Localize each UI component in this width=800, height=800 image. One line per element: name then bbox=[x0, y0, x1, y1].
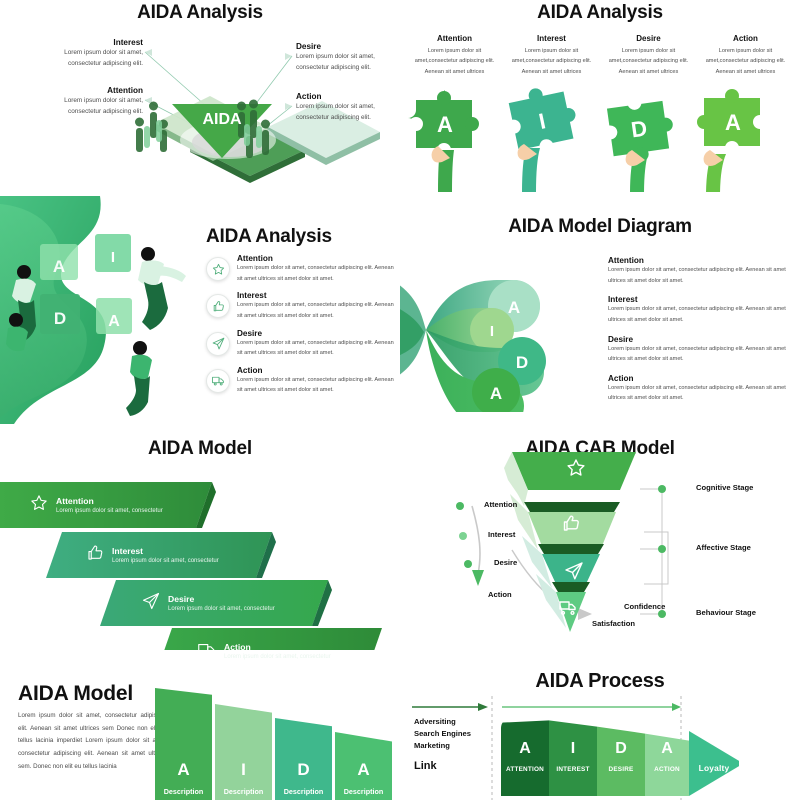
ribbon-heading: Action bbox=[224, 642, 331, 652]
cab-stage-behaviour: Behaviour Stage bbox=[696, 607, 776, 618]
process-label: ACTION bbox=[645, 766, 689, 773]
bar-description: Description bbox=[335, 784, 392, 800]
panel2-puzzle-illustration: A I D bbox=[406, 86, 794, 192]
process-label: DESIRE bbox=[597, 766, 645, 773]
panel7-title: AIDA Model bbox=[18, 682, 133, 706]
callout-interest-heading: Interest bbox=[8, 38, 143, 47]
truck-icon bbox=[198, 640, 216, 661]
panel2-title: AIDA Analysis bbox=[400, 2, 800, 24]
ribbon-action[interactable]: Action Lorem ipsum dolor sit amet, conse… bbox=[168, 628, 384, 660]
panel2-body-line2: amet,consectetur adipiscing elit. bbox=[603, 56, 694, 66]
callout-desire-line2: consectetur adipiscing elit. bbox=[296, 62, 400, 73]
panel8-line-advertising: Adversiting bbox=[414, 716, 471, 728]
process-label: INTEREST bbox=[549, 766, 597, 773]
panel4-text: Lorem ipsum dolor sit amet, consectetur … bbox=[608, 344, 798, 365]
panel7-body-text: Lorem ipsum dolor sit amet, consectetur … bbox=[18, 710, 168, 774]
panel-aida-model-ribbons: AIDA Model bbox=[0, 424, 400, 660]
paper-plane-icon bbox=[142, 592, 160, 615]
thumbs-up-icon bbox=[86, 544, 104, 567]
list-item-attention[interactable]: Attention Lorem ipsum dolor sit amet, co… bbox=[206, 254, 398, 284]
callout-action-line1: Lorem ipsum dolor sit amet, bbox=[296, 101, 400, 112]
panel2-body-line1: Lorem ipsum dolor sit bbox=[409, 46, 500, 56]
ribbon-heading: Attention bbox=[56, 496, 163, 506]
callout-attention-heading: Attention bbox=[8, 86, 143, 95]
cab-step-attention: Attention bbox=[484, 500, 517, 509]
bar-column-i[interactable]: I Description bbox=[215, 704, 272, 800]
list-item-heading: Interest bbox=[237, 291, 398, 300]
bar-description: Description bbox=[215, 784, 272, 800]
panel2-body-line1: Lorem ipsum dolor sit bbox=[700, 46, 791, 56]
cab-stage-affective: Affective Stage bbox=[696, 542, 776, 553]
panel-aida-analysis-isometric: AIDA Analysis bbox=[0, 0, 400, 196]
panel2-body-line1: Lorem ipsum dolor sit bbox=[603, 46, 694, 56]
panel2-body-line2: amet,consectetur adipiscing elit. bbox=[409, 56, 500, 66]
panel8-line-marketing: Marketing bbox=[414, 740, 471, 752]
panel2-heading-attention: Attention bbox=[409, 34, 500, 43]
callout-attention: Attention Lorem ipsum dolor sit amet, co… bbox=[8, 86, 143, 117]
list-item-text: Lorem ipsum dolor sit amet, consectetur … bbox=[237, 300, 398, 321]
panel1-center-label: AIDA bbox=[202, 111, 242, 128]
panel2-body-line3: Aenean sit amet ultrices bbox=[603, 67, 694, 77]
bar-letter: A bbox=[335, 760, 392, 780]
list-item-text: Lorem ipsum dolor sit amet, consectetur … bbox=[237, 375, 398, 396]
thumbs-up-icon bbox=[206, 294, 230, 318]
panel2-col-action: Action Lorem ipsum dolor sit amet,consec… bbox=[697, 34, 794, 77]
panel2-heading-desire: Desire bbox=[603, 34, 694, 43]
bar-column-a2[interactable]: A Description bbox=[335, 732, 392, 800]
callout-desire-heading: Desire bbox=[296, 42, 400, 51]
process-letter: D bbox=[597, 740, 645, 758]
callout-interest-line2: consectetur adipiscing elit. bbox=[8, 58, 143, 69]
panel2-columns: Attention Lorem ipsum dolor sit amet,con… bbox=[406, 34, 794, 77]
process-segment-attention[interactable]: A ATTENTION bbox=[501, 718, 549, 796]
panel-aida-model-diagram: AIDA Model Diagram A I bbox=[400, 210, 800, 424]
ribbon-text: Lorem ipsum dolor sit amet, consectetur bbox=[56, 508, 163, 514]
process-letter: A bbox=[645, 740, 689, 758]
panel8-line-search-engines: Search Engines bbox=[414, 728, 471, 740]
panel8-link-label: Link bbox=[414, 760, 437, 772]
ribbon-heading: Desire bbox=[168, 594, 275, 604]
svg-text:A: A bbox=[108, 313, 120, 330]
truck-icon bbox=[206, 369, 230, 393]
paper-plane-icon bbox=[206, 332, 230, 356]
bar-chart: A Description I Description D Descriptio… bbox=[155, 688, 395, 800]
callout-desire: Desire Lorem ipsum dolor sit amet, conse… bbox=[296, 42, 400, 73]
panel4-letter-a1: A bbox=[508, 298, 520, 317]
panel3-item-list: Attention Lorem ipsum dolor sit amet, co… bbox=[206, 254, 398, 403]
list-item-text: Lorem ipsum dolor sit amet, consectetur … bbox=[237, 338, 398, 359]
svg-text:A: A bbox=[53, 257, 65, 276]
panel-aida-analysis-list: A I D A AIDA Analysis bbox=[0, 196, 400, 424]
callout-interest: Interest Lorem ipsum dolor sit amet, con… bbox=[8, 38, 143, 69]
panel4-heading: Desire bbox=[608, 335, 798, 344]
panel2-body-line2: amet,consectetur adipiscing elit. bbox=[700, 56, 791, 66]
bar-description: Description bbox=[155, 784, 212, 800]
panel4-text: Lorem ipsum dolor sit amet, consectetur … bbox=[608, 304, 798, 325]
star-icon bbox=[30, 494, 48, 517]
list-item-text: Lorem ipsum dolor sit amet, consectetur … bbox=[237, 263, 398, 284]
panel-aida-cab-model: AIDA CAB Model bbox=[400, 424, 800, 670]
panel4-text: Lorem ipsum dolor sit amet, consectetur … bbox=[608, 383, 798, 404]
panel8-left-lines: Adversiting Search Engines Marketing bbox=[414, 716, 471, 751]
panel4-text: Lorem ipsum dolor sit amet, consectetur … bbox=[608, 265, 798, 286]
callout-attention-line1: Lorem ipsum dolor sit amet, bbox=[8, 95, 143, 106]
panel-aida-model-bars: AIDA Model Lorem ipsum dolor sit amet, c… bbox=[0, 660, 400, 800]
bar-letter: D bbox=[275, 760, 332, 780]
ribbon-desire[interactable]: Desire Lorem ipsum dolor sit amet, conse… bbox=[112, 580, 328, 626]
panel2-body-line3: Aenean sit amet ultrices bbox=[700, 67, 791, 77]
panel4-letter-d: D bbox=[516, 353, 528, 372]
process-letter: A bbox=[501, 740, 549, 758]
callout-action-heading: Action bbox=[296, 92, 400, 101]
svg-text:D: D bbox=[54, 309, 66, 328]
bar-letter: A bbox=[155, 760, 212, 780]
panel4-item-attention: Attention Lorem ipsum dolor sit amet, co… bbox=[608, 256, 798, 286]
list-item-interest[interactable]: Interest Lorem ipsum dolor sit amet, con… bbox=[206, 291, 398, 321]
panel2-col-attention: Attention Lorem ipsum dolor sit amet,con… bbox=[406, 34, 503, 77]
panel-aida-analysis-puzzle: AIDA Analysis Attention Lorem ipsum dolo… bbox=[400, 0, 800, 196]
ribbon-heading: Interest bbox=[112, 546, 219, 556]
bar-letter: I bbox=[215, 760, 272, 780]
cab-step-interest: Interest bbox=[488, 530, 515, 539]
panel2-body-line1: Lorem ipsum dolor sit bbox=[506, 46, 597, 56]
callout-attention-line2: consectetur adipiscing elit. bbox=[8, 106, 143, 117]
svg-text:A: A bbox=[725, 110, 741, 135]
callout-action: Action Lorem ipsum dolor sit amet, conse… bbox=[296, 92, 400, 123]
list-item-heading: Desire bbox=[237, 329, 398, 338]
panel-aida-process: AIDA Process Adversiting Search Engines … bbox=[400, 660, 800, 800]
panel3-illustration: A I D A bbox=[0, 196, 196, 424]
panel2-heading-interest: Interest bbox=[506, 34, 597, 43]
cab-label-confidence: Confidence bbox=[624, 602, 665, 611]
list-item-heading: Action bbox=[237, 366, 398, 375]
ribbon-text: Lorem ipsum dolor sit amet, consectetur bbox=[168, 606, 275, 612]
process-segment-interest[interactable]: I INTEREST bbox=[549, 718, 597, 796]
panel2-col-desire: Desire Lorem ipsum dolor sit amet,consec… bbox=[600, 34, 697, 77]
panel2-body-line3: Aenean sit amet ultrices bbox=[506, 67, 597, 77]
panel4-item-desire: Desire Lorem ipsum dolor sit amet, conse… bbox=[608, 335, 798, 365]
process-label: ATTENTION bbox=[501, 766, 549, 773]
bar-column-d[interactable]: D Description bbox=[275, 718, 332, 800]
panel4-item-list: Attention Lorem ipsum dolor sit amet, co… bbox=[608, 256, 798, 413]
callout-action-line2: consectetur adipiscing elit. bbox=[296, 112, 400, 123]
callout-desire-line1: Lorem ipsum dolor sit amet, bbox=[296, 51, 400, 62]
cab-stage-cognitive: Cognitive Stage bbox=[696, 482, 776, 493]
cab-step-desire: Desire bbox=[494, 558, 517, 567]
panel2-col-interest: Interest Lorem ipsum dolor sit amet,cons… bbox=[503, 34, 600, 77]
panel4-heading: Attention bbox=[608, 256, 798, 265]
panel4-heading: Action bbox=[608, 374, 798, 383]
panel4-heading: Interest bbox=[608, 295, 798, 304]
bar-column-a1[interactable]: A Description bbox=[155, 688, 212, 800]
panel5-title: AIDA Model bbox=[0, 438, 400, 460]
list-item-heading: Attention bbox=[237, 254, 398, 263]
panel2-body-line2: amet,consectetur adipiscing elit. bbox=[506, 56, 597, 66]
panel2-heading-action: Action bbox=[700, 34, 791, 43]
cab-label-satisfaction: Satisfaction bbox=[592, 619, 635, 628]
process-letter: I bbox=[549, 740, 597, 758]
callout-interest-line1: Lorem ipsum dolor sit amet, bbox=[8, 47, 143, 58]
svg-text:I: I bbox=[111, 249, 115, 266]
panel3-title: AIDA Analysis bbox=[206, 226, 396, 248]
panel4-letter-i: I bbox=[490, 323, 494, 340]
star-icon bbox=[206, 257, 230, 281]
panel4-title: AIDA Model Diagram bbox=[400, 216, 800, 238]
cab-step-action: Action bbox=[488, 590, 512, 599]
list-item-action[interactable]: Action Lorem ipsum dolor sit amet, conse… bbox=[206, 366, 398, 396]
svg-text:A: A bbox=[437, 112, 453, 137]
list-item-desire[interactable]: Desire Lorem ipsum dolor sit amet, conse… bbox=[206, 329, 398, 359]
panel4-illustration: A I D A bbox=[400, 256, 606, 412]
panel4-item-interest: Interest Lorem ipsum dolor sit amet, con… bbox=[608, 295, 798, 325]
panel2-body-line3: Aenean sit amet ultrices bbox=[409, 67, 500, 77]
panel4-letter-a2: A bbox=[490, 384, 502, 403]
bar-description: Description bbox=[275, 784, 332, 800]
ribbon-interest[interactable]: Interest Lorem ipsum dolor sit amet, con… bbox=[56, 532, 272, 578]
panel4-item-action: Action Lorem ipsum dolor sit amet, conse… bbox=[608, 374, 798, 404]
ribbon-text: Lorem ipsum dolor sit amet, consectetur bbox=[112, 558, 219, 564]
ribbon-attention[interactable]: Attention Lorem ipsum dolor sit amet, co… bbox=[0, 482, 212, 528]
